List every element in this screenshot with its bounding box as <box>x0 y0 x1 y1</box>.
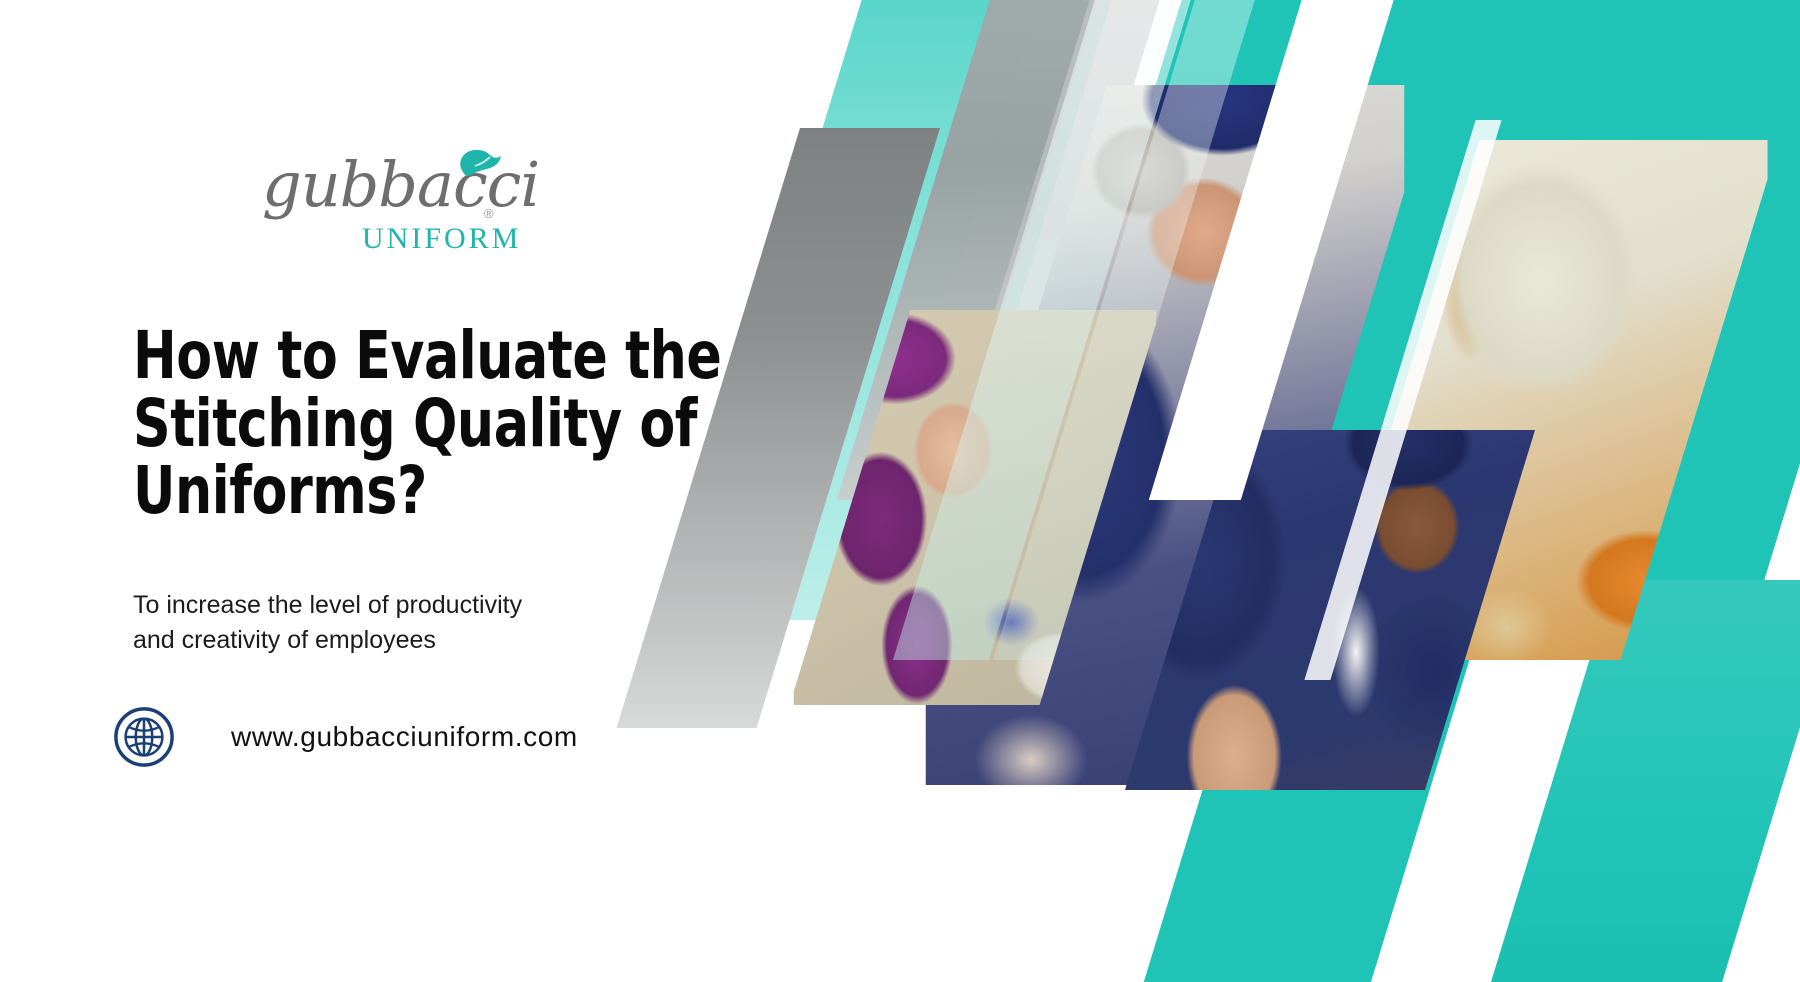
headline-line-1: How to Evaluate the <box>133 322 661 389</box>
registered-mark: ® <box>484 206 494 221</box>
brand-logo: gubbacci ® UNIFORM <box>262 148 512 258</box>
website-url[interactable]: www.gubbacciuniform.com <box>231 721 578 753</box>
subtitle: To increase the level of productivity an… <box>133 588 653 657</box>
poster-canvas: gubbacci ® UNIFORM How to Evaluate the S… <box>0 0 1800 982</box>
globe-icon <box>113 706 175 768</box>
logo-subtext: UNIFORM <box>362 222 521 256</box>
subtitle-line-2: and creativity of employees <box>133 623 653 658</box>
subtitle-line-1: To increase the level of productivity <box>133 588 653 623</box>
headline-line-3: Uniforms? <box>133 457 661 524</box>
website-row[interactable]: www.gubbacciuniform.com <box>113 706 578 768</box>
text-column: gubbacci ® UNIFORM How to Evaluate the S… <box>0 0 760 982</box>
headline-line-2: Stitching Quality of <box>133 390 661 457</box>
page-title: How to Evaluate the Stitching Quality of… <box>133 322 661 524</box>
bird-icon <box>455 144 503 184</box>
